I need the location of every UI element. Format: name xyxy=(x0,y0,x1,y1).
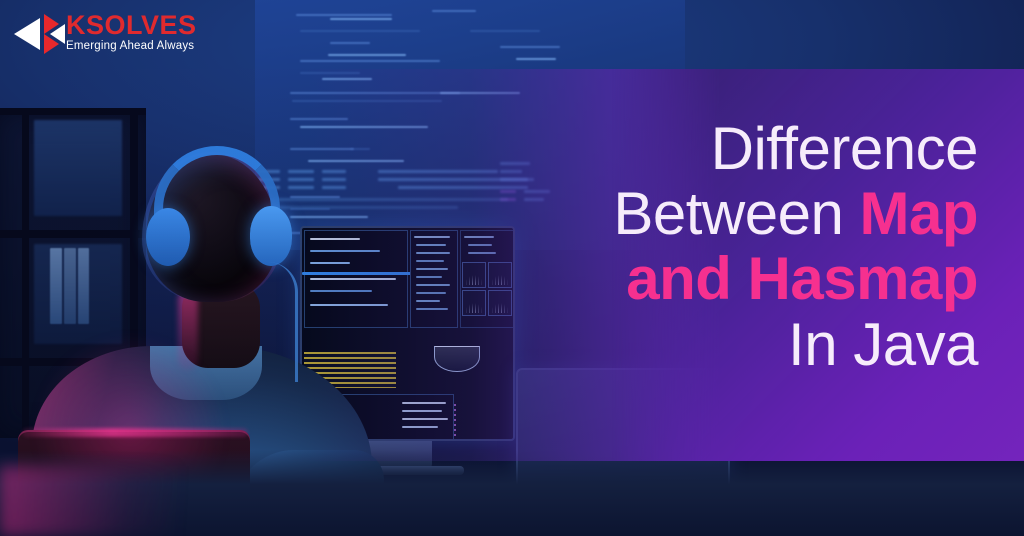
code-line xyxy=(296,14,392,16)
code-line xyxy=(500,46,560,48)
code-line xyxy=(328,54,406,56)
title-word-in-java: In Java xyxy=(788,311,978,378)
title-line-2: Between Map xyxy=(448,183,978,244)
code-line xyxy=(300,60,440,62)
page-title: Difference Between Map and Hasmap In Jav… xyxy=(448,118,978,375)
banner: Difference Between Map and Hasmap In Jav… xyxy=(0,0,1024,536)
brand-logo-text: KSOLVES Emerging Ahead Always xyxy=(66,10,197,52)
title-line-4: In Java xyxy=(448,314,978,375)
title-word-difference: Difference xyxy=(711,115,978,182)
brand-name: KSOLVES xyxy=(66,10,197,41)
title-word-map: Map xyxy=(860,180,979,247)
code-line xyxy=(470,30,540,32)
desk-pink-light xyxy=(0,466,180,536)
brand-tagline: Emerging Ahead Always xyxy=(66,40,197,52)
title-word-between: Between xyxy=(613,180,859,247)
code-line xyxy=(330,42,370,44)
title-word-and-hasmap: and Hasmap xyxy=(626,245,978,312)
code-line xyxy=(516,58,556,60)
title-line-1: Difference xyxy=(448,118,978,179)
code-line xyxy=(432,10,476,12)
ksolves-arrow-logo-icon xyxy=(14,12,70,56)
code-line xyxy=(330,18,392,20)
brand-logo[interactable]: KSOLVES Emerging Ahead Always xyxy=(14,8,214,60)
title-line-3: and Hasmap xyxy=(448,248,978,309)
code-line xyxy=(300,30,420,32)
